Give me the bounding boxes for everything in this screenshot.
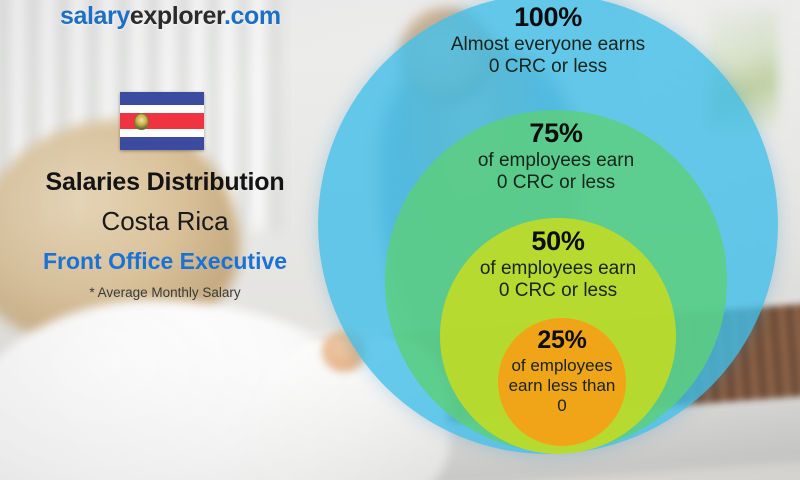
percentile-50-line2: 0 CRC or less [440,280,676,302]
percentile-25-line3: 0 [498,396,626,416]
flag-band-red [120,113,204,130]
percentile-75-line2: 0 CRC or less [385,172,727,194]
percentile-circle-25: 25% of employees earn less than 0 [498,318,626,446]
percentile-100-line1: Almost everyone earns [318,34,778,56]
flag-band-white-lower [120,129,204,137]
country-label: Costa Rica [0,206,330,237]
percentile-100-text: 100% Almost everyone earns 0 CRC or less [318,2,778,79]
flag-band-white-upper [120,105,204,113]
percentile-50-text: 50% of employees earn 0 CRC or less [440,226,676,303]
percentile-25-line1: of employees [498,356,626,376]
costa-rica-flag-icon [120,92,204,150]
percentile-100-value: 100% [318,2,778,34]
percentile-75-line1: of employees earn [385,150,727,172]
flag-band-blue-bottom [120,137,204,150]
site-logo: salaryexplorer.com [60,2,281,31]
logo-part-salary: salary [60,2,130,30]
percentile-50-value: 50% [440,226,676,258]
salary-note-label: * Average Monthly Salary [0,285,330,300]
percentile-100-line2: 0 CRC or less [318,56,778,78]
percentile-25-text: 25% of employees earn less than 0 [498,326,626,416]
percentile-75-text: 75% of employees earn 0 CRC or less [385,118,727,195]
percentile-75-value: 75% [385,118,727,150]
logo-part-explorer: explorer [130,2,224,30]
percentile-25-line2: earn less than [498,376,626,396]
percentile-50-line1: of employees earn [440,258,676,280]
salary-distribution-infographic: salaryexplorer.com Salaries Distribution… [0,0,800,480]
percentile-25-value: 25% [498,326,626,356]
job-title-label: Front Office Executive [0,248,330,275]
page-title: Salaries Distribution [0,168,330,197]
flag-band-blue-top [120,92,204,105]
logo-part-tld: .com [224,2,281,30]
